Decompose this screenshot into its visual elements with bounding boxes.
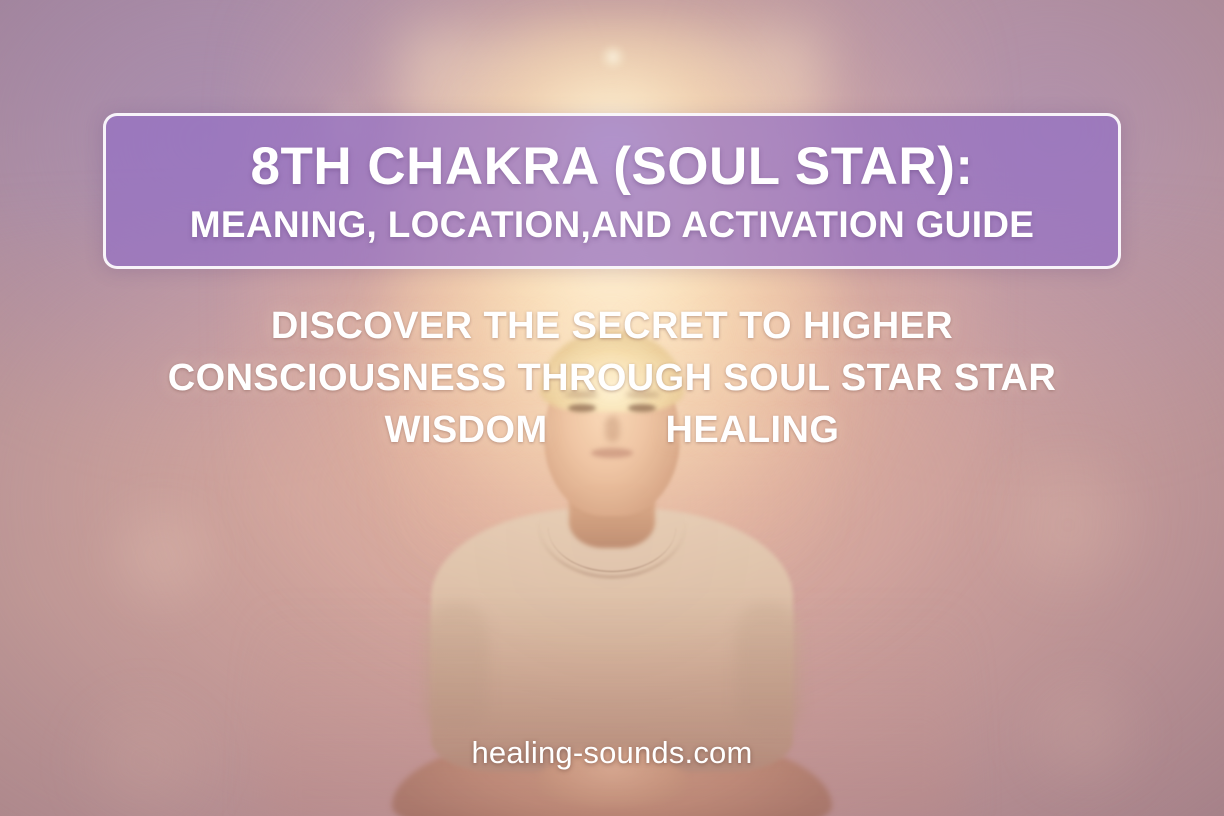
site-watermark: healing-sounds.com: [0, 735, 1224, 771]
title-line-2: MEANING, LOCATION,AND ACTIVATION GUIDE: [190, 206, 1035, 243]
title-banner: 8TH CHAKRA (SOUL STAR): MEANING, LOCATIO…: [103, 113, 1121, 269]
hero-graphic: 8TH CHAKRA (SOUL STAR): MEANING, LOCATIO…: [0, 0, 1224, 816]
title-line-1: 8TH CHAKRA (SOUL STAR):: [250, 140, 973, 193]
